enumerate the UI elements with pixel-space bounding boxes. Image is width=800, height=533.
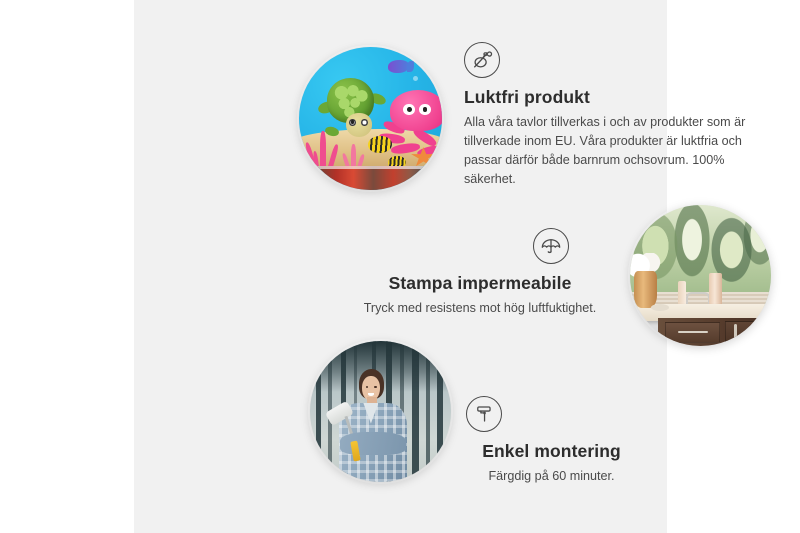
feature-description: Färgdig på 60 minuter. bbox=[454, 467, 649, 486]
icon-wrap-mount bbox=[454, 396, 649, 441]
gold-vase bbox=[634, 271, 657, 308]
icon-wrap-water bbox=[349, 228, 611, 273]
octopus-arm bbox=[391, 142, 421, 155]
paint-roller-icon bbox=[466, 396, 502, 432]
photo-bathroom-leaf-wallpaper[interactable] bbox=[630, 205, 771, 346]
content-panel: Luktfri produkt Alla våra tavlor tillver… bbox=[134, 0, 667, 533]
soap-dish bbox=[651, 304, 669, 311]
vanity-drawer bbox=[665, 322, 720, 344]
icon-wrap-odor bbox=[464, 42, 754, 78]
fish-purple bbox=[388, 60, 409, 73]
screenshot-root: Luktfri produkt Alla våra tavlor tillver… bbox=[0, 0, 800, 533]
feature-title: Stampa impermeabile bbox=[349, 273, 611, 294]
octopus-eye bbox=[403, 104, 414, 115]
bathroom-scene bbox=[630, 205, 771, 346]
turtle-eye bbox=[364, 120, 366, 123]
turtle-head bbox=[346, 113, 372, 137]
woman-smile bbox=[368, 393, 374, 396]
photo-ocean-kids-mural[interactable] bbox=[299, 47, 442, 190]
octopus-eye bbox=[419, 104, 430, 115]
photo-strip-bottom bbox=[299, 166, 442, 190]
umbrella-icon bbox=[533, 228, 569, 264]
ocean-scene bbox=[299, 47, 442, 190]
fish-striped bbox=[368, 136, 392, 153]
vanity-door bbox=[725, 321, 771, 346]
feature-odor-free: Luktfri produkt Alla våra tavlor tillver… bbox=[464, 42, 754, 189]
coral-pink bbox=[306, 131, 343, 168]
feature-title: Luktfri produkt bbox=[464, 87, 754, 108]
feature-description: Tryck med resistens mot hög luftfuktighe… bbox=[349, 299, 611, 318]
feature-description: Alla våra tavlor tillverkas i och av pro… bbox=[464, 113, 754, 189]
woman-figure bbox=[335, 369, 417, 482]
forest-scene bbox=[310, 341, 451, 482]
turtle-illustration bbox=[322, 78, 388, 138]
octopus-illustration bbox=[382, 90, 442, 162]
turtle-eye bbox=[351, 120, 353, 123]
feature-easy-mounting: Enkel montering Färgdig på 60 minuter. bbox=[454, 396, 649, 486]
octopus-head bbox=[390, 90, 442, 131]
no-odor-spray-icon bbox=[464, 42, 500, 78]
feature-waterproof-print: Stampa impermeabile Tryck med resistens … bbox=[349, 228, 611, 318]
photo-woman-paint-roller-forest[interactable] bbox=[310, 341, 451, 482]
feature-title: Enkel montering bbox=[454, 441, 649, 462]
wood-vanity bbox=[658, 318, 771, 346]
soap-bottle bbox=[678, 281, 686, 306]
